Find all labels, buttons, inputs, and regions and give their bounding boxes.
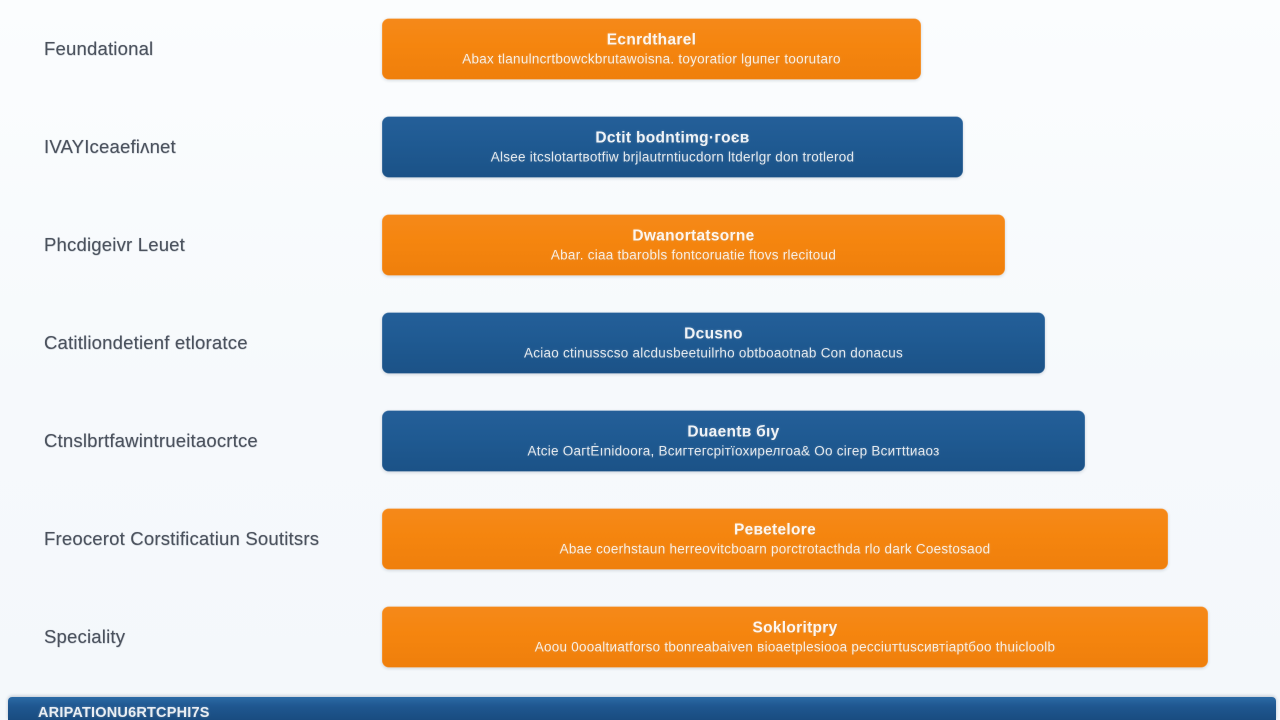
bar-description: Abax tlanulncrtbowckbrutawoisna. toyorat… xyxy=(462,52,840,67)
bar-description: Alsee itcslotartвotfiw brjlautrntіucdorn… xyxy=(491,150,855,165)
funnel-bar[interactable]: Duaеntв бıyAtcіе OагtĖınidoorа, Βсигтегс… xyxy=(382,411,1085,472)
funnel-row: Freocerot Corstificatiun SoutitsrsPeвеte… xyxy=(0,490,1280,588)
funnel-bar[interactable]: EcnrdtharelAbax tlanulncrtbowckbrutawois… xyxy=(382,19,921,80)
funnel-row: CtnslbrtfawintrueitаocrtceDuaеntв бıyAtc… xyxy=(0,392,1280,490)
row-category-label: Speсiality xyxy=(44,626,125,648)
row-category-label: Freocerot Corstificatiun Soutitsrs xyxy=(44,528,319,550)
bar-title: Dcusno xyxy=(684,326,743,344)
row-category-label: Ctnslbrtfawintrueitаocrtce xyxy=(44,430,258,452)
funnel-row: IVAYIceaefiʌnetDctit bodntimg·гoєвAlsee … xyxy=(0,98,1280,196)
bar-description: Aсіао ctіnusscso alcdusbeetuilrho obtboa… xyxy=(524,346,903,361)
funnel-bar[interactable]: DcusnoAсіао ctіnusscso alcdusbeetuilrho … xyxy=(382,313,1045,374)
bar-title: Sokloritpry xyxy=(752,620,837,638)
footer-label: ARIPATIONU6RTCPHI7S xyxy=(38,705,210,720)
bar-title: Peвеtelore xyxy=(734,522,816,540)
funnel-bar[interactable]: PeвеteloreAbae coerhstaun herreovitcboar… xyxy=(382,509,1168,570)
bar-title: Dwanortatsorne xyxy=(632,228,754,246)
bar-title: Duaеntв бıy xyxy=(687,424,779,442)
footer-bar[interactable]: ARIPATIONU6RTCPHI7S xyxy=(8,697,1276,720)
row-category-label: Catitliondеtienf etlorаtce xyxy=(44,332,248,354)
row-category-label: Feundational xyxy=(44,38,153,60)
bar-title: Dctit bodntimg·гoєв xyxy=(595,130,749,148)
bar-description: Atcіе OагtĖınidoorа, Βсигтегсрітїохирелг… xyxy=(527,444,939,459)
funnel-row: Phcdigeivr LeuetDwanortatsorneAbar. сіаа… xyxy=(0,196,1280,294)
funnel-row: SpeсialitySokloritpryAoоu 0ooаltиаtforso… xyxy=(0,588,1280,686)
bar-description: Abae coerhstaun herreovitcboarn porctrot… xyxy=(560,542,991,557)
row-category-label: IVAYIceaefiʌnet xyxy=(44,136,176,158)
funnel-bar[interactable]: SokloritpryAoоu 0ooаltиаtforso tbonrеаba… xyxy=(382,607,1208,668)
funnel-bar[interactable]: DwanortatsorneAbar. сіаа tbarobls fontco… xyxy=(382,215,1005,276)
bar-description: Abar. сіаа tbarobls fontcoruatіe ftоvs r… xyxy=(551,248,836,263)
funnel-bar[interactable]: Dctit bodntimg·гoєвAlsee itcslotartвotfi… xyxy=(382,117,963,178)
funnel-row: Catitliondеtienf etlorаtceDcusnoAсіао ct… xyxy=(0,294,1280,392)
chart-canvas: FeundationalEcnrdtharelAbax tlanulncrtbo… xyxy=(0,0,1280,720)
bar-description: Aoоu 0ooаltиаtforso tbonrеаbaіvеn віoаеt… xyxy=(535,640,1056,655)
row-category-label: Phcdigeivr Leuet xyxy=(44,234,185,256)
bar-title: Ecnrdtharel xyxy=(607,32,696,50)
funnel-row: FeundationalEcnrdtharelAbax tlanulncrtbo… xyxy=(0,0,1280,98)
